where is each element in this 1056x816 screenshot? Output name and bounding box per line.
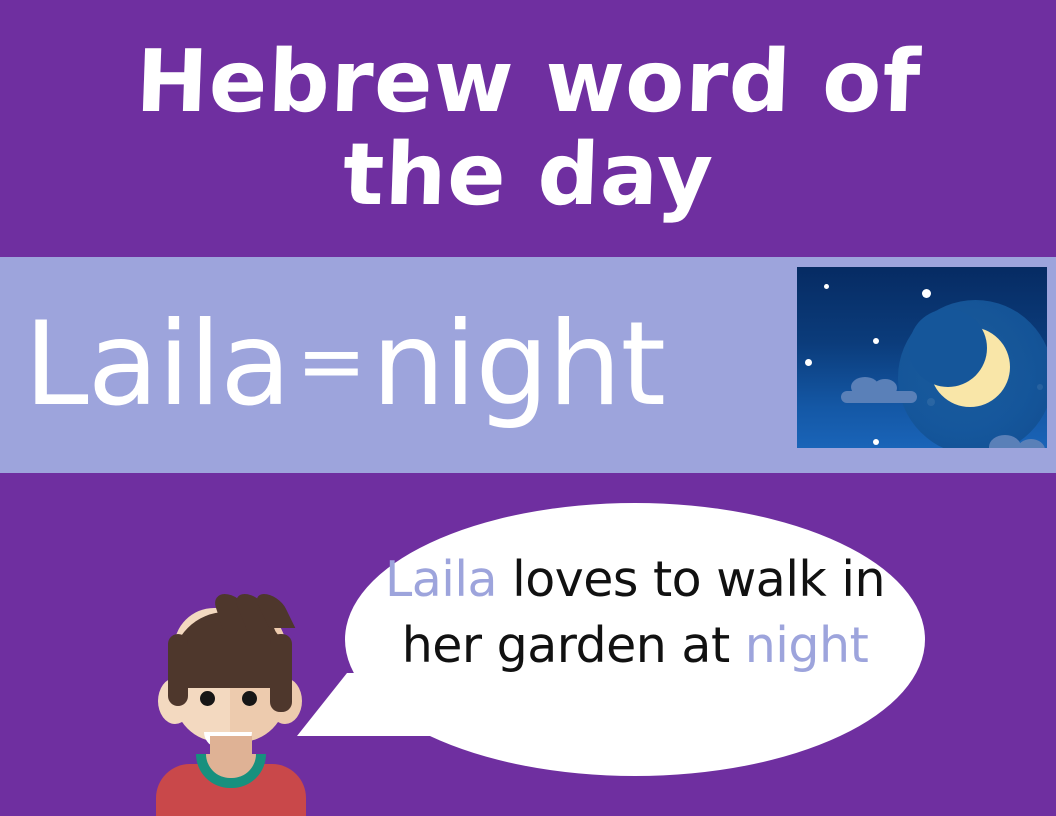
speech-bubble: Laila loves to walk in her garden at nig… [345,503,925,776]
night-sky-illustration [797,267,1047,448]
cloud-icon [985,435,1047,448]
equals-sign: = [290,312,371,410]
star-icon [873,338,879,344]
example-sentence: Laila loves to walk in her garden at nig… [379,547,891,678]
star-icon [922,289,931,298]
eye-right [242,691,257,706]
star-icon [824,284,829,289]
sentence-highlight-word-2: night [745,617,869,674]
page-title-line-1: Hebrew word of [134,40,922,124]
english-word: night [372,297,665,432]
moon-crescent-cutout [909,309,987,387]
hair [166,592,294,684]
sentence-highlight-word-1: Laila [385,551,497,608]
eye-left [200,691,215,706]
translation-text: Laila=night [24,307,665,423]
boy-avatar [152,586,308,816]
star-icon [805,359,812,366]
page-title-line-2: the day [341,133,715,217]
star-icon [873,439,879,445]
hebrew-word: Laila [24,297,290,432]
cloud-icon [841,377,917,403]
title-band: Hebrew word of the day [0,0,1056,257]
poster-root: Hebrew word of the day Laila=night [0,0,1056,816]
